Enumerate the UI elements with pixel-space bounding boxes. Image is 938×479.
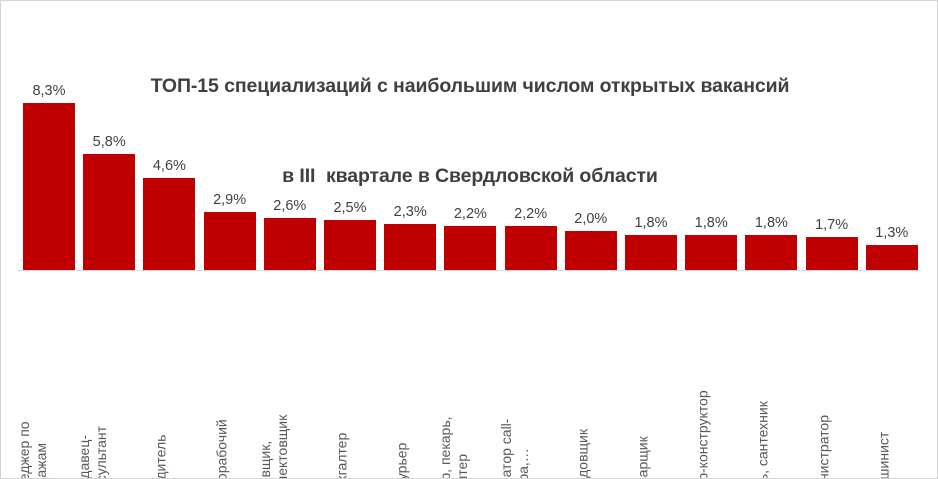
bar-rect[interactable] <box>143 178 195 271</box>
category-label-14: Администратор <box>806 275 858 465</box>
bar-9[interactable]: 2,2% <box>505 71 557 271</box>
category-label-9: Оператор call- центра,… <box>505 275 557 465</box>
category-label-15: Машинист <box>866 275 918 465</box>
bar-rect[interactable] <box>625 235 677 271</box>
bar-4[interactable]: 2,9% <box>204 71 256 271</box>
bar-rect[interactable] <box>83 154 135 271</box>
bar-value-label: 2,3% <box>394 204 427 220</box>
bar-value-label: 2,9% <box>213 192 246 208</box>
category-label-11: Сварщик <box>625 275 677 465</box>
bar-3[interactable]: 4,6% <box>143 71 195 271</box>
category-label-12: Инжженер-конструктор <box>685 275 737 465</box>
bar-value-label: 1,8% <box>634 215 667 231</box>
x-axis-line <box>17 270 921 271</box>
bar-13[interactable]: 1,8% <box>745 71 797 271</box>
category-label-text: Разнорабочий <box>213 419 230 479</box>
category-label-13: Слесарь, сантехник <box>745 275 797 465</box>
bar-value-label: 2,2% <box>454 206 487 222</box>
bar-value-label: 4,6% <box>153 158 186 174</box>
bar-2[interactable]: 5,8% <box>83 71 135 271</box>
bar-rect[interactable] <box>806 237 858 271</box>
category-axis-labels: Менеджер по продажамПродавец- консультан… <box>17 275 921 475</box>
category-label-text: Курьер <box>394 442 411 479</box>
bar-7[interactable]: 2,3% <box>384 71 436 271</box>
category-label-text: Повар, пекарь, кондитер <box>437 416 470 479</box>
category-label-text: Бухгалтер <box>334 432 351 479</box>
bar-rect[interactable] <box>384 224 436 271</box>
bar-value-label: 1,8% <box>755 215 788 231</box>
category-label-text: Слесарь, сантехник <box>755 401 772 479</box>
bar-value-label: 2,5% <box>333 200 366 216</box>
bar-10[interactable]: 2,0% <box>565 71 617 271</box>
bar-rect[interactable] <box>204 212 256 271</box>
plot-area: 8,3%5,8%4,6%2,9%2,6%2,5%2,3%2,2%2,2%2,0%… <box>17 71 921 271</box>
bar-14[interactable]: 1,7% <box>806 71 858 271</box>
bar-rect[interactable] <box>565 231 617 271</box>
category-label-3: Водитель <box>143 275 195 465</box>
bar-value-label: 1,8% <box>695 215 728 231</box>
bar-rect[interactable] <box>324 220 376 271</box>
category-label-text: Машинист <box>875 431 892 479</box>
bar-value-label: 5,8% <box>93 134 126 150</box>
category-label-text: Администратор <box>815 414 832 479</box>
category-label-text: Сварщик <box>635 436 652 479</box>
bar-8[interactable]: 2,2% <box>444 71 496 271</box>
bar-5[interactable]: 2,6% <box>264 71 316 271</box>
bar-rect[interactable] <box>745 235 797 271</box>
bar-rect[interactable] <box>866 245 918 271</box>
bar-12[interactable]: 1,8% <box>685 71 737 271</box>
category-label-10: Кладовщик <box>565 275 617 465</box>
bar-value-label: 2,6% <box>273 198 306 214</box>
category-label-text: Менеджер по продажам <box>16 421 49 479</box>
bar-value-label: 1,3% <box>875 225 908 241</box>
bar-6[interactable]: 2,5% <box>324 71 376 271</box>
category-label-text: Оператор call- центра,… <box>498 419 531 479</box>
category-label-text: Водитель <box>153 434 170 479</box>
category-label-2: Продавец- консультант <box>83 275 135 465</box>
bar-1[interactable]: 8,3% <box>23 71 75 271</box>
category-label-1: Менеджер по продажам <box>23 275 75 465</box>
category-label-6: Бухгалтер <box>324 275 376 465</box>
bar-value-label: 2,0% <box>574 211 607 227</box>
chart-container: ТОП-15 специализаций с наибольшим числом… <box>0 0 938 479</box>
category-label-7: Курьер <box>384 275 436 465</box>
category-label-5: Упаковщик, комплектовщик <box>264 275 316 465</box>
bar-rect[interactable] <box>505 226 557 271</box>
bar-value-label: 8,3% <box>32 83 65 99</box>
bar-rect[interactable] <box>264 218 316 271</box>
bar-value-label: 2,2% <box>514 206 547 222</box>
category-label-8: Повар, пекарь, кондитер <box>444 275 496 465</box>
bar-15[interactable]: 1,3% <box>866 71 918 271</box>
category-label-text: Кладовщик <box>574 429 591 479</box>
category-label-text: Инжженер-конструктор <box>695 390 712 479</box>
category-label-text: Упаковщик, комплектовщик <box>257 415 290 479</box>
bar-rect[interactable] <box>685 235 737 271</box>
bar-value-label: 1,7% <box>815 217 848 233</box>
category-label-text: Продавец- консультант <box>76 426 109 479</box>
bar-rect[interactable] <box>444 226 496 271</box>
bar-11[interactable]: 1,8% <box>625 71 677 271</box>
category-label-4: Разнорабочий <box>204 275 256 465</box>
bar-rect[interactable] <box>23 103 75 271</box>
